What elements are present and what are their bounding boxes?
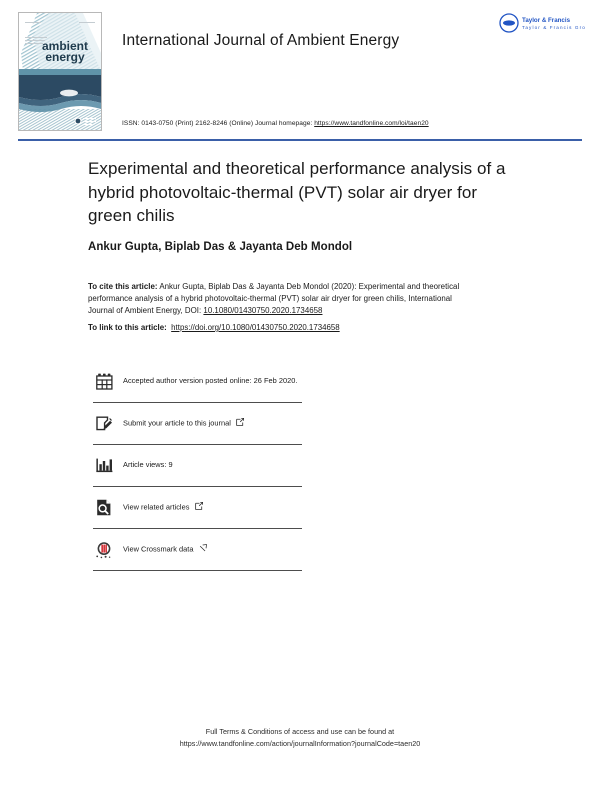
citation-block: To cite this article: Ankur Gupta, Bipla… [88, 281, 460, 318]
pencil-submit-icon [93, 414, 115, 434]
document-search-icon [93, 498, 115, 518]
list-item-label: Submit your article to this journal [123, 418, 244, 430]
taylor-and-francis-logo-mark: Taylor & Francis Taylor & Francis Group [498, 11, 586, 35]
article-link-block: To link to this article: https://doi.org… [88, 322, 460, 334]
page-footer: Full Terms & Conditions of access and us… [0, 726, 600, 749]
crossmark-link-text[interactable]: View Crossmark data [123, 544, 193, 553]
list-item[interactable]: View Crossmark data [93, 528, 302, 570]
issn-homepage-line: ISSN: 0143-0750 (Print) 2162-8246 (Onlin… [122, 120, 429, 127]
journal-homepage-link[interactable]: https://www.tandfonline.com/loi/taen20 [314, 120, 428, 127]
page-header: ambient energy [0, 0, 600, 142]
article-metadata-list: Accepted author version posted online: 2… [93, 361, 302, 571]
taylor-and-francis-logo[interactable]: Taylor & Francis Taylor & Francis Group [498, 11, 586, 35]
doi-url-link[interactable]: https://doi.org/10.1080/01430750.2020.17… [171, 323, 339, 332]
calendar-icon [93, 372, 115, 392]
list-bottom-divider [93, 570, 302, 571]
footer-terms-line: Full Terms & Conditions of access and us… [0, 726, 600, 738]
cite-lead-label: To cite this article: [88, 282, 158, 291]
svg-text:energy: energy [45, 50, 85, 64]
article-authors: Ankur Gupta, Biplab Das & Jayanta Deb Mo… [88, 241, 508, 253]
svg-text:Taylor & Francis Group: Taylor & Francis Group [522, 25, 586, 30]
journal-cover-thumbnail[interactable]: ambient energy [18, 12, 102, 131]
related-articles-link-text[interactable]: View related articles [123, 502, 189, 511]
journal-article-cover-page: ambient energy [0, 0, 600, 788]
list-item: Accepted author version posted online: 2… [93, 361, 302, 402]
crossmark-icon [93, 540, 115, 560]
footer-url-line[interactable]: https://www.tandfonline.com/action/journ… [0, 738, 600, 750]
article-title: Experimental and theoretical performance… [88, 157, 508, 228]
external-link-icon [199, 544, 207, 556]
list-item-label: Accepted author version posted online: 2… [123, 376, 297, 387]
list-item-label: View related articles [123, 502, 203, 514]
list-item-label: Article views: 9 [123, 460, 173, 471]
list-item[interactable]: Submit your article to this journal [93, 402, 302, 444]
header-divider [18, 139, 582, 141]
list-item[interactable]: View related articles [93, 486, 302, 528]
issn-text: ISSN: 0143-0750 (Print) 2162-8246 (Onlin… [122, 120, 312, 127]
external-link-icon [195, 502, 203, 514]
submit-article-link-text[interactable]: Submit your article to this journal [123, 418, 231, 427]
list-item: Article views: 9 [93, 444, 302, 486]
svg-text:Taylor & Francis: Taylor & Francis [522, 17, 571, 24]
journal-cover-artwork: ambient energy [19, 13, 101, 130]
journal-title: International Journal of Ambient Energy [122, 32, 399, 50]
doi-link[interactable]: 10.1080/01430750.2020.1734658 [203, 306, 322, 315]
bar-chart-icon [93, 456, 115, 476]
link-lead-label: To link to this article: [88, 323, 167, 332]
external-link-icon [236, 418, 244, 430]
list-item-label: View Crossmark data [123, 544, 207, 556]
